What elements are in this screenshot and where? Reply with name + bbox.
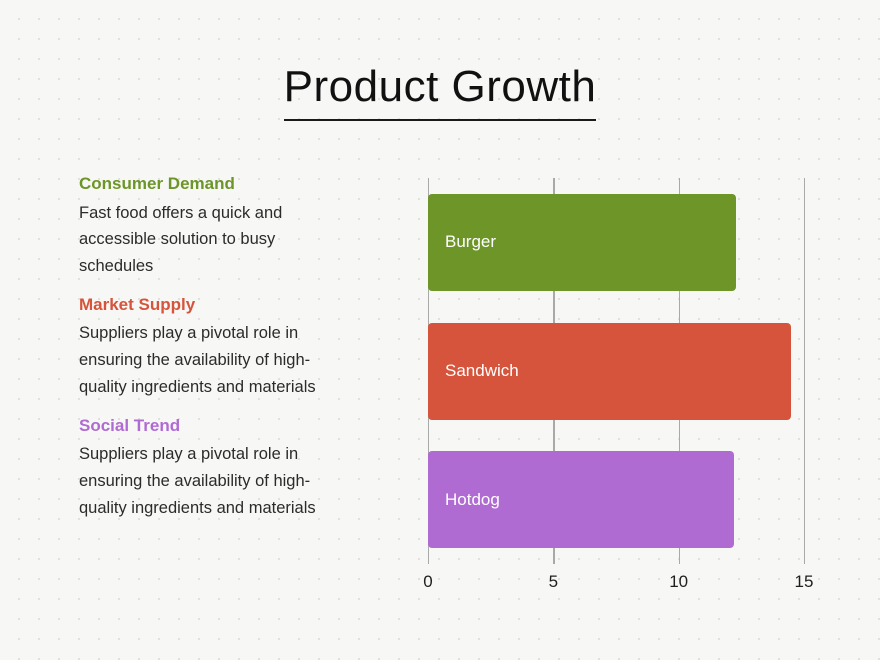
text-column: Consumer Demand Fast food offers a quick… (79, 172, 329, 521)
x-tick-label-15: 15 (795, 572, 814, 592)
chart-bars: BurgerSandwichHotdog (428, 178, 804, 564)
text-block-market-supply: Market Supply Suppliers play a pivotal r… (79, 293, 329, 401)
bar-label-burger: Burger (428, 232, 496, 252)
block-body-consumer-demand: Fast food offers a quick and accessible … (79, 200, 329, 280)
block-body-market-supply: Suppliers play a pivotal role in ensurin… (79, 320, 329, 400)
block-body-social-trend: Suppliers play a pivotal role in ensurin… (79, 441, 329, 521)
chart-x-axis: 051015 (428, 564, 804, 598)
bar-chart: BurgerSandwichHotdog (428, 178, 804, 564)
block-heading-social-trend: Social Trend (79, 414, 329, 439)
bar-sandwich[interactable]: Sandwich (428, 323, 791, 420)
block-heading-market-supply: Market Supply (79, 293, 329, 318)
gridline-15 (804, 178, 805, 564)
bar-burger[interactable]: Burger (428, 194, 736, 291)
bar-hotdog[interactable]: Hotdog (428, 451, 734, 548)
text-block-social-trend: Social Trend Suppliers play a pivotal ro… (79, 414, 329, 522)
block-heading-consumer-demand: Consumer Demand (79, 172, 329, 197)
bar-label-hotdog: Hotdog (428, 490, 500, 510)
slide-canvas: Product Growth Consumer Demand Fast food… (0, 0, 880, 660)
x-tick-label-5: 5 (549, 572, 558, 592)
x-tick-label-10: 10 (669, 572, 688, 592)
page-title: Product Growth (284, 62, 597, 121)
bar-label-sandwich: Sandwich (428, 361, 519, 381)
x-tick-label-0: 0 (423, 572, 432, 592)
text-block-consumer-demand: Consumer Demand Fast food offers a quick… (79, 172, 329, 280)
page-title-container: Product Growth (0, 62, 880, 121)
